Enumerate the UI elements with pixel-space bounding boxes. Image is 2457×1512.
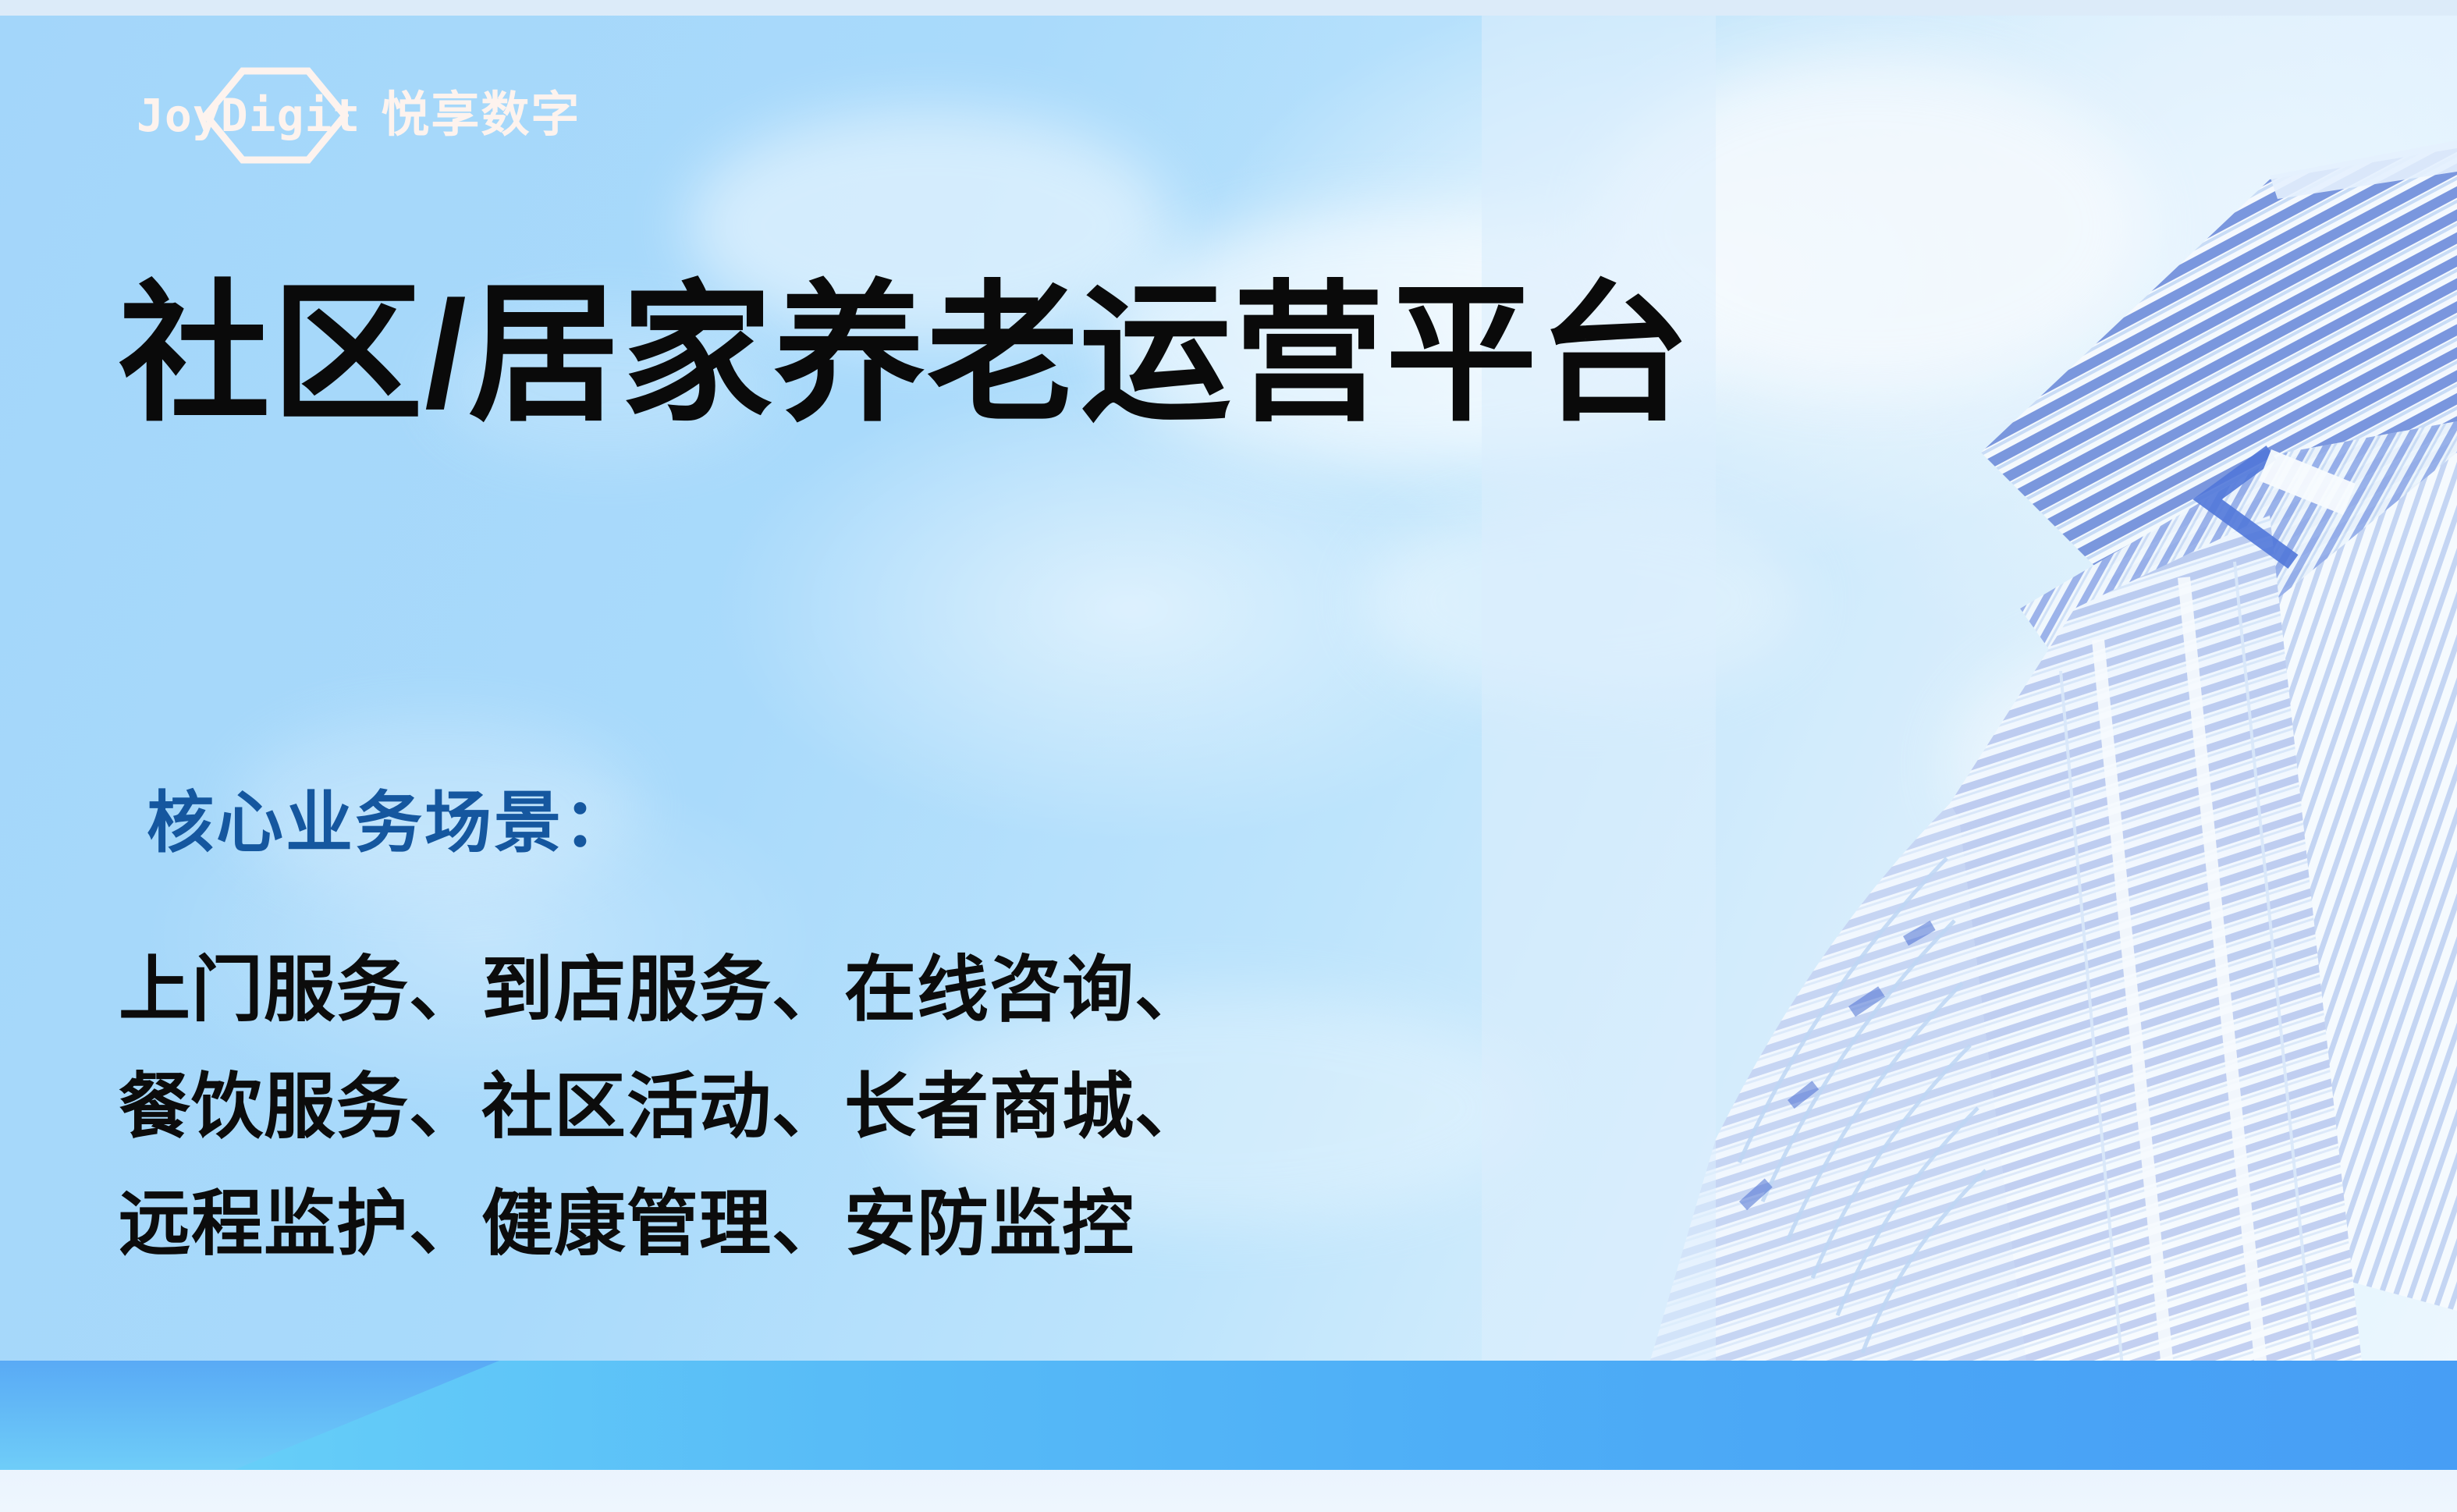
diagonal-ribbon <box>0 1361 2457 1470</box>
scenario-line: 上门服务、到店服务、在线咨询、 <box>119 932 1207 1049</box>
brand-name-cn: 悦享数字 <box>381 91 581 140</box>
slide-root: JoyDigit 悦享数字 社区/居家养老运营平台 核心业务场景： 上门服务、到… <box>0 0 2457 1512</box>
brand-logo[interactable]: JoyDigit 悦享数字 <box>137 84 581 147</box>
scenario-line: 餐饮服务、社区活动、长者商城、 <box>119 1049 1207 1166</box>
brand-mark: JoyDigit <box>137 93 360 138</box>
cloud-puff <box>1365 499 1802 702</box>
scenario-list: 上门服务、到店服务、在线咨询、 餐饮服务、社区活动、长者商城、 远程监护、健康管… <box>119 932 1207 1283</box>
bottom-decoration <box>0 1361 2457 1512</box>
cloud-puff <box>1951 624 2450 905</box>
hero-canvas: JoyDigit 悦享数字 社区/居家养老运营平台 核心业务场景： 上门服务、到… <box>0 16 2457 1376</box>
section-subtitle: 核心业务场景： <box>147 790 633 857</box>
scenario-line: 远程监护、健康管理、安防监控 <box>119 1166 1207 1283</box>
top-frame-strip <box>0 0 2457 16</box>
page-title: 社区/居家养老运营平台 <box>119 279 1692 431</box>
